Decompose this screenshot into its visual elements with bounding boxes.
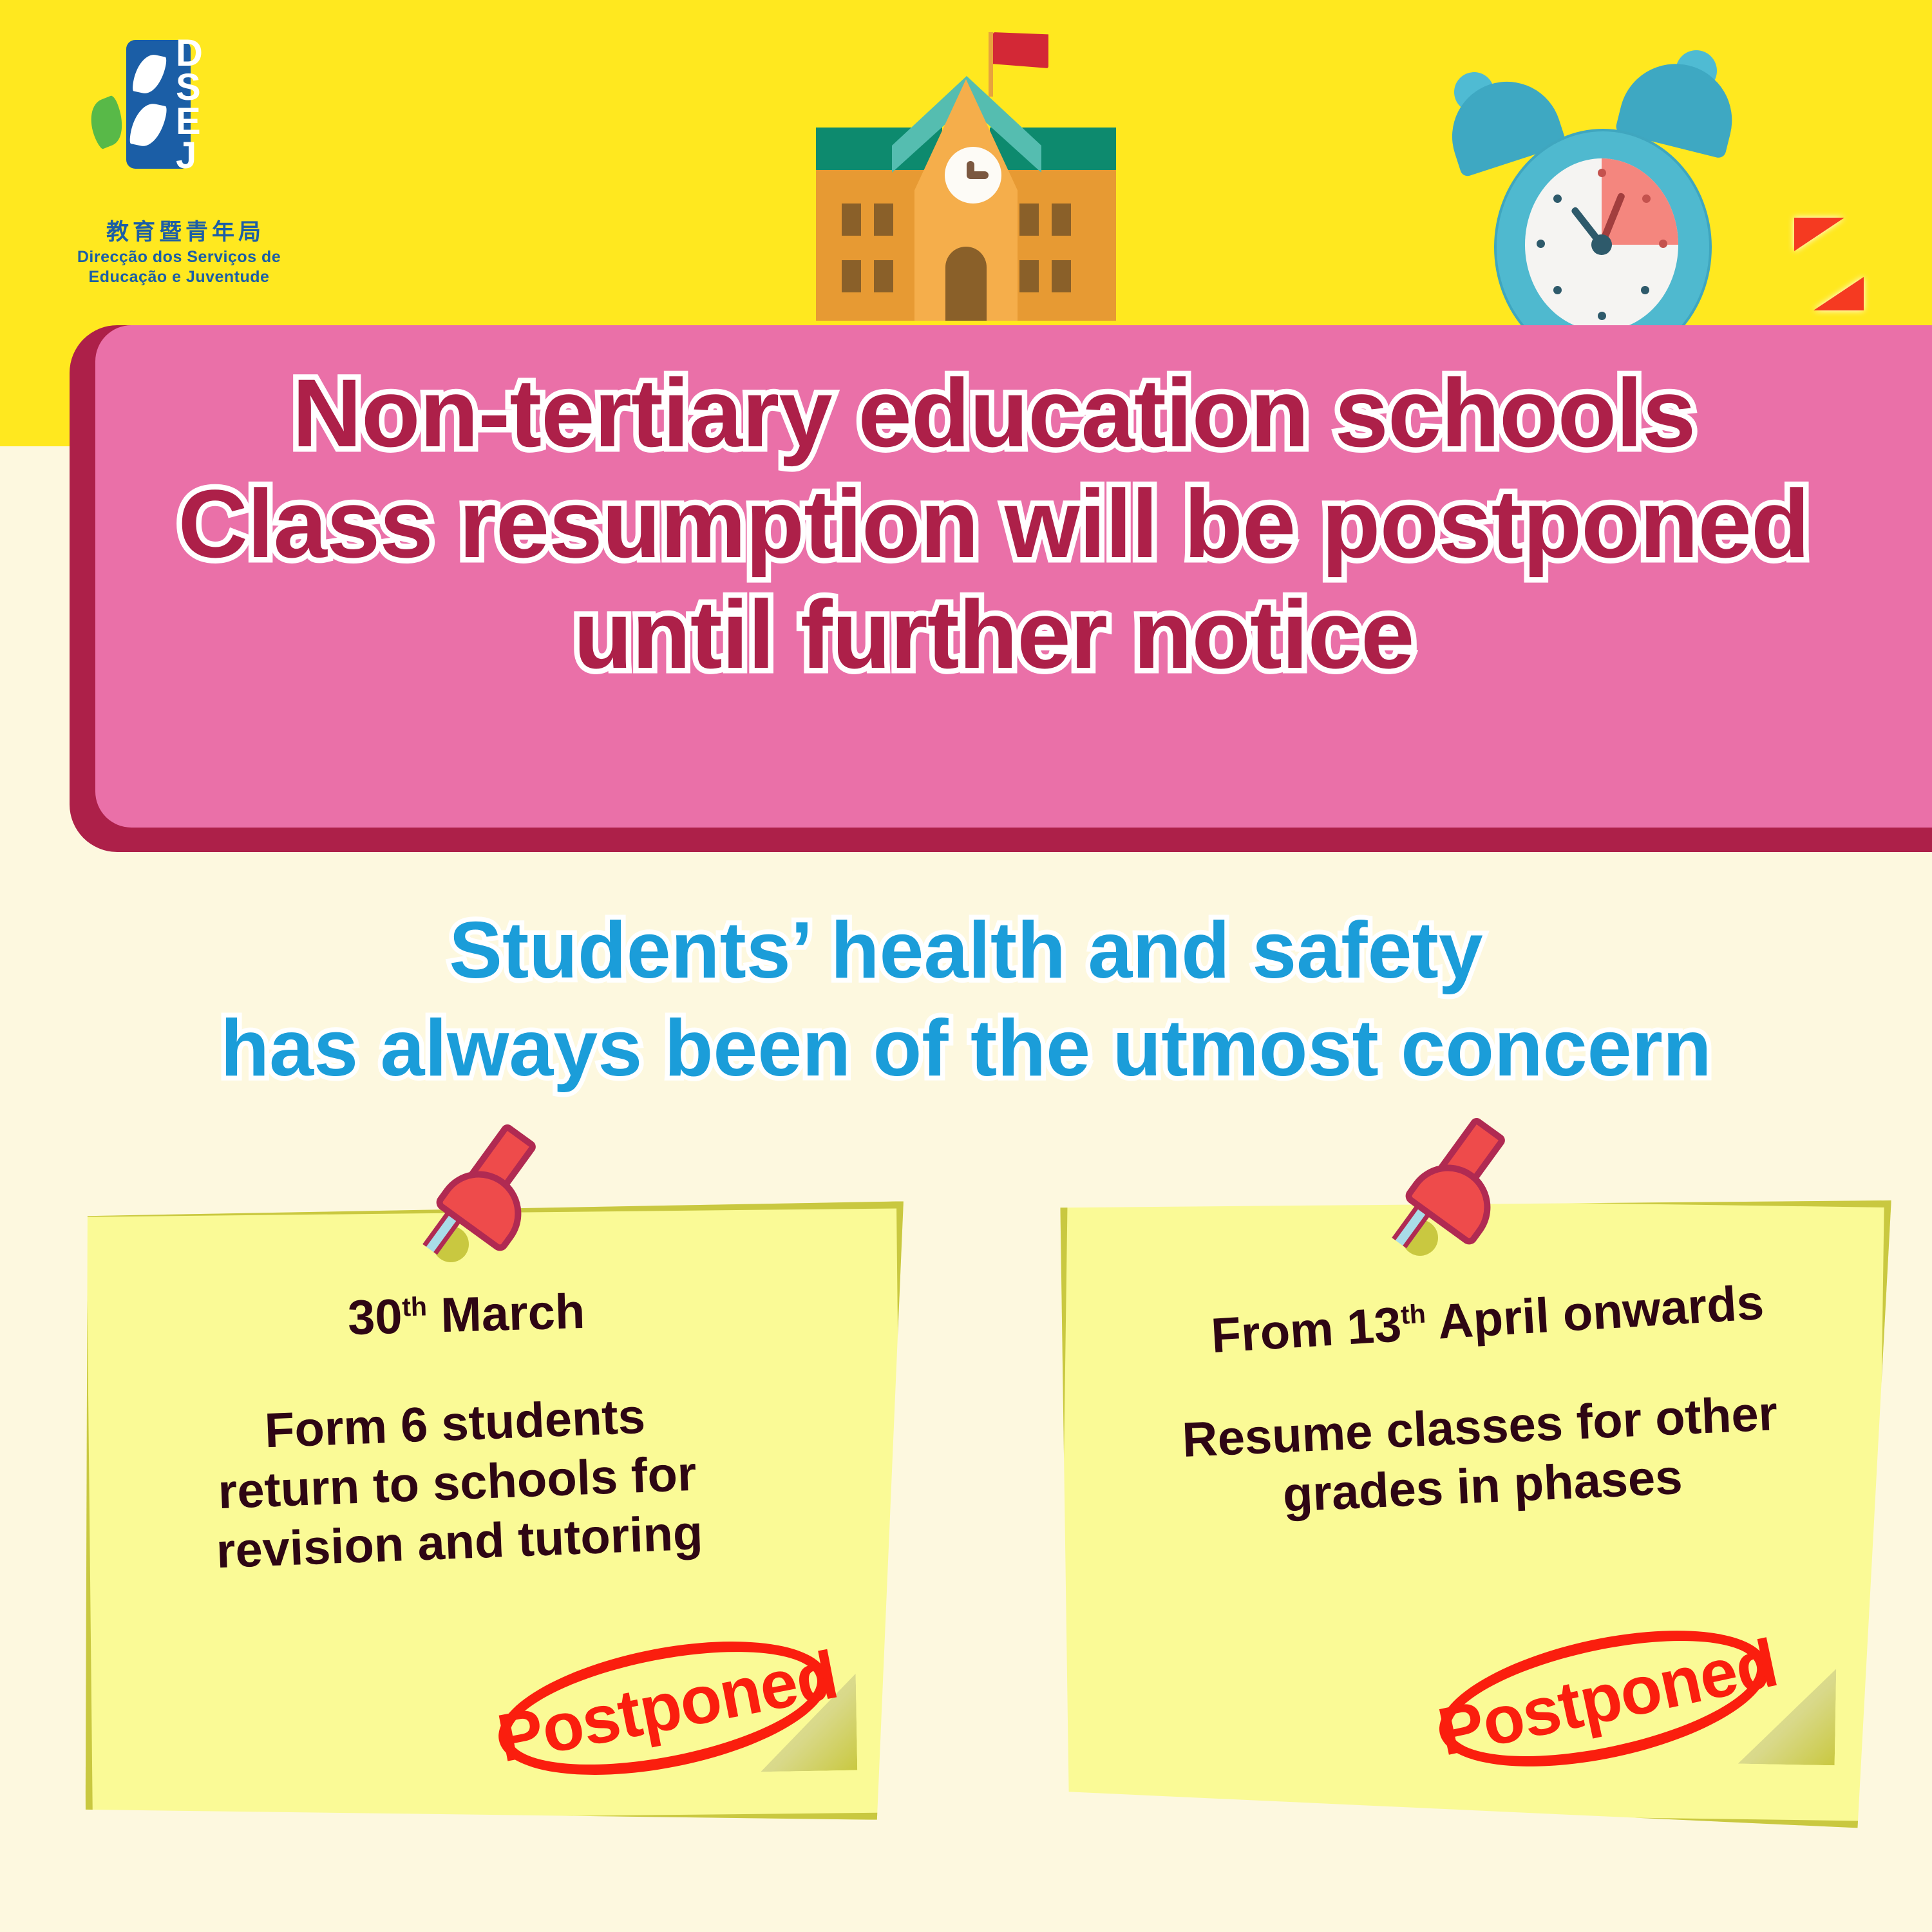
poster-canvas: D S E J 教育暨青年局 Direcção dos Serviços de …: [0, 0, 1932, 1932]
logo-portuguese-line-1: Direcção dos Serviços de: [50, 247, 308, 267]
logo-chinese-name: 教育暨青年局: [63, 214, 308, 247]
school-window: [1052, 204, 1071, 236]
headline-line-3: until further notice: [95, 579, 1892, 690]
school-window: [842, 260, 861, 292]
motion-ray-icon: [1794, 218, 1844, 251]
clock-tick-dot: [1598, 169, 1606, 177]
date-month: March: [440, 1284, 585, 1343]
leaf-icon: [82, 95, 131, 150]
alarm-clock-face: [1525, 158, 1678, 331]
logo-portuguese-line-2: Educação e Juventude: [50, 267, 308, 287]
pushpin-icon-left: [431, 1127, 554, 1269]
school-window: [1019, 260, 1039, 292]
logo-letters: D S E J: [176, 36, 229, 173]
school-window: [874, 204, 893, 236]
logo-letter-j: J: [176, 138, 229, 173]
headline-line-2: Class resumption will be postponed: [95, 468, 1892, 579]
clock-tick-dot: [1642, 194, 1651, 203]
logo-letter-s: S: [176, 70, 229, 104]
page-subtitle: Students’ health and safety has always b…: [84, 902, 1848, 1097]
school-clock-minute-hand: [967, 171, 989, 179]
school-building-icon: [802, 18, 1124, 321]
clock-tick-dot: [1553, 286, 1562, 294]
date-number: 13: [1345, 1297, 1403, 1355]
school-window: [1052, 260, 1071, 292]
school-door: [945, 247, 987, 321]
date-prefix: From: [1209, 1300, 1349, 1363]
sticky-note-left-date: 30th March: [347, 1283, 586, 1346]
logo-mark: D S E J: [50, 27, 308, 220]
motion-ray-icon: [1814, 277, 1864, 310]
sticky-note-left-body: Form 6 students return to schools for re…: [177, 1384, 737, 1583]
clock-tick-dot: [1641, 286, 1649, 294]
page-title: Non-tertiary education schools Class res…: [95, 357, 1892, 690]
logo-letter-e: E: [176, 104, 229, 138]
flag-icon: [993, 32, 1048, 68]
subtitle-line-1: Students’ health and safety: [84, 902, 1848, 999]
headline-line-1: Non-tertiary education schools: [95, 357, 1892, 468]
pushpin-icon-right: [1401, 1121, 1523, 1262]
logo-letter-d: D: [176, 36, 229, 70]
logo-portuguese-name: Direcção dos Serviços de Educação e Juve…: [50, 247, 308, 287]
school-window: [842, 204, 861, 236]
clock-tick-dot: [1598, 312, 1606, 320]
dsej-logo: D S E J 教育暨青年局 Direcção dos Serviços de …: [50, 27, 308, 298]
alarm-clock-pivot: [1591, 234, 1612, 255]
clock-tick-dot: [1537, 240, 1545, 248]
date-suffix: th: [402, 1291, 428, 1321]
school-window: [874, 260, 893, 292]
clock-tick-dot: [1553, 194, 1562, 203]
clock-tick-dot: [1659, 240, 1667, 248]
subtitle-line-2: has always been of the utmost concern: [84, 999, 1848, 1097]
date-suffix: th: [1400, 1299, 1426, 1330]
flagpole: [989, 32, 993, 97]
date-number: 30: [347, 1289, 403, 1345]
school-window: [1019, 204, 1039, 236]
alarm-clock-red-segment: [1602, 158, 1678, 245]
